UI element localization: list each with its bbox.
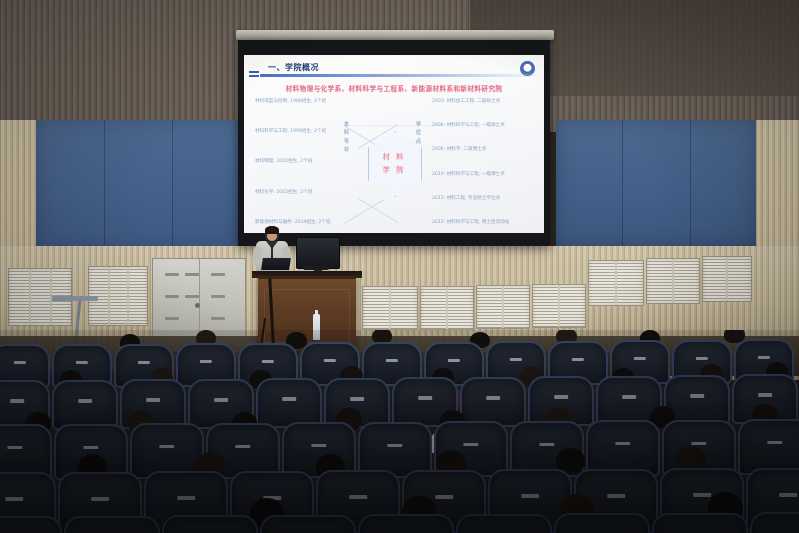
hexagon-line-1: 材 料	[383, 152, 405, 162]
wall-louver-vent	[476, 285, 530, 329]
wall-louver-vent	[420, 286, 474, 330]
auditorium-seat[interactable]	[0, 516, 62, 533]
wall-panel-seam	[690, 120, 691, 252]
auditorium-seat[interactable]	[738, 419, 799, 475]
list-item: 材料物理: 2002招生, 2个班	[255, 159, 312, 164]
auditorium-seat[interactable]	[586, 420, 660, 476]
projected-slide-surface: 一、学院概况 材料物理与化学系、材料科学与工程系、新能源材料系和新材料研究院 材…	[244, 55, 544, 233]
right-blue-wall-panel	[556, 120, 756, 248]
wall-louver-vent	[532, 284, 586, 328]
auditorium-seat[interactable]	[750, 512, 799, 533]
slide-content: 一、学院概况 材料物理与化学系、材料科学与工程系、新能源材料系和新材料研究院 材…	[244, 55, 544, 233]
desktop-monitor	[296, 237, 340, 269]
departments-degree-diagram: 材料成型与控制: 1986招生, 4个班 材料科学与工程: 1999招生, 2个…	[244, 99, 544, 229]
list-item: 材料成型与控制: 1986招生, 4个班	[255, 99, 326, 104]
list-item: 新能源材料与器件: 2019招生, 2个班	[255, 220, 331, 225]
auditorium-seat[interactable]	[256, 378, 322, 428]
left-axis-label: 本科专业	[342, 121, 351, 155]
auditorium-seat[interactable]	[554, 513, 650, 533]
list-item: 材料科学与工程: 1999招生, 2个班	[255, 129, 326, 134]
list-item: 2003: 材料加工工程, 二级硕士点	[432, 99, 500, 104]
monitor-base	[303, 266, 329, 270]
auditorium-seat[interactable]	[162, 515, 258, 533]
list-item: 2010: 材料科学与工程, 一级博士点	[432, 172, 505, 177]
presenter-hair	[265, 226, 279, 234]
undergrad-programs-column: 材料成型与控制: 1986招生, 4个班 材料科学与工程: 1999招生, 2个…	[255, 99, 363, 225]
hexagon-line-2: 学 院	[383, 165, 405, 175]
screen-roller-housing	[236, 30, 554, 40]
wall-shelf-bracket	[52, 296, 99, 301]
wall-panel-seam	[172, 120, 173, 252]
laptop	[261, 258, 291, 270]
auditorium-seat[interactable]	[260, 515, 356, 533]
lecture-hall-photo: 一、学院概况 材料物理与化学系、材料科学与工程系、新能源材料系和新材料研究院 材…	[0, 0, 799, 533]
wall-louver-vent	[702, 256, 752, 302]
seated-audience	[0, 330, 799, 533]
title-accent-dashes	[249, 71, 259, 77]
cabinet-knob-icon	[195, 303, 200, 308]
degree-programs-column: 2003: 材料加工工程, 二级硕士点 2006: 材料科学与工程, 一级硕士点…	[432, 99, 536, 225]
auditorium-seat[interactable]	[358, 514, 454, 533]
auditorium-seat[interactable]	[52, 380, 118, 430]
wall-louver-vent	[588, 260, 644, 306]
list-item: 2006: 材料学, 二级博士点	[432, 147, 486, 152]
hexagon-label: 材 料 学 院	[368, 131, 420, 195]
slide-subtitle: 材料物理与化学系、材料科学与工程系、新能源材料系和新材料研究院	[244, 83, 544, 93]
left-blue-wall-panel	[36, 120, 246, 252]
list-item: 2012: 材料科学与工程, 博士后流动站	[432, 220, 509, 225]
university-seal-logo-icon	[520, 61, 535, 76]
slide-heading: 一、学院概况	[268, 62, 319, 73]
list-item: 材料化学: 2002招生, 2个班	[255, 190, 312, 195]
list-item: 2006: 材料科学与工程, 一级硕士点	[432, 123, 505, 128]
slide-title-rule	[260, 74, 536, 77]
auditorium-seat[interactable]	[64, 516, 160, 533]
wall-louver-vent	[362, 286, 418, 330]
auditorium-seat[interactable]	[652, 513, 748, 533]
wall-louver-vent	[646, 258, 700, 304]
center-hexagon-group: 材 料 学 院	[356, 123, 432, 203]
auditorium-seat[interactable]	[456, 514, 552, 533]
wall-panel-seam	[622, 120, 623, 252]
projection-screen: 一、学院概况 材料物理与化学系、材料科学与工程系、新能源材料系和新材料研究院 材…	[238, 40, 550, 246]
list-item: 2011: 材料工程, 专业硕士学位点	[432, 196, 500, 201]
auditorium-seat[interactable]	[460, 377, 526, 427]
wall-panel-seam	[104, 120, 105, 252]
